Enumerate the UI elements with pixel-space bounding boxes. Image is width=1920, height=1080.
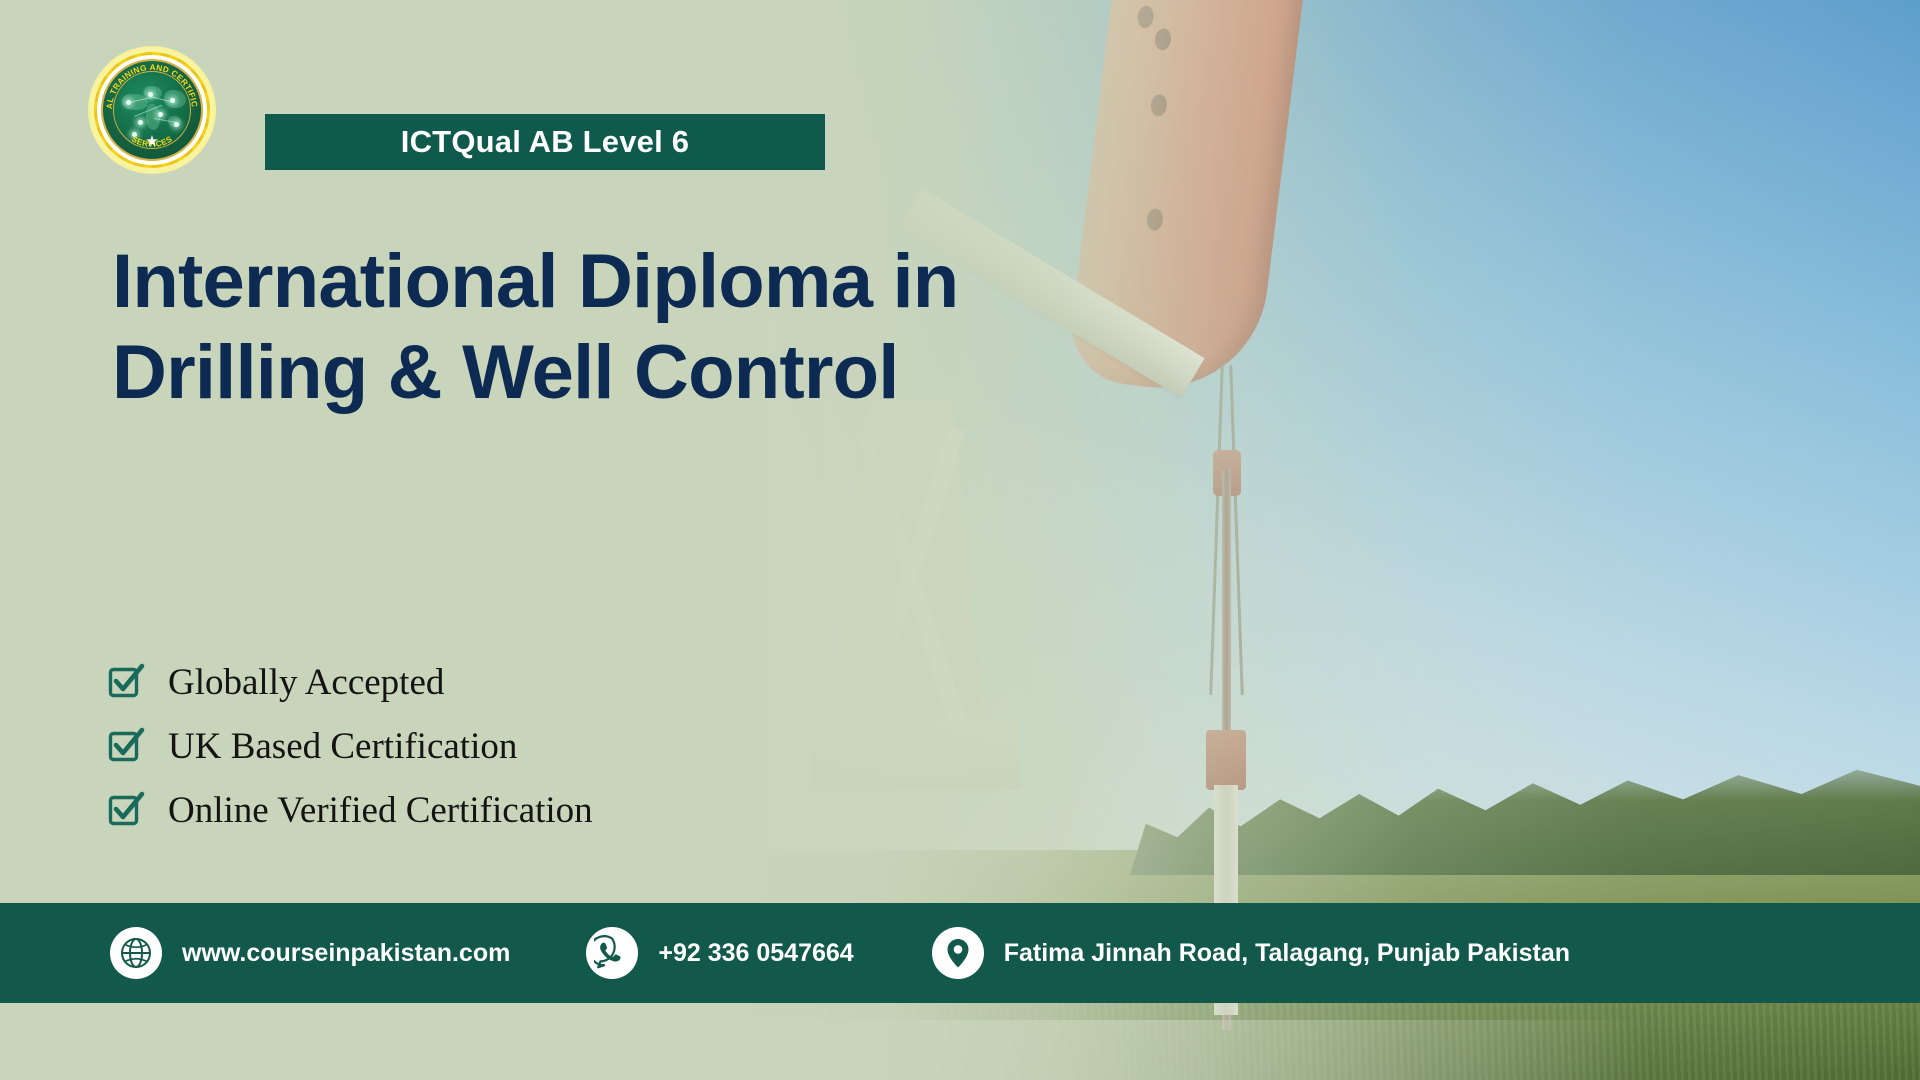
sage-overlay-bottom-strip	[0, 1020, 1920, 1080]
page-title: International Diploma in Drilling & Well…	[112, 236, 1072, 418]
list-item: Online Verified Certification	[108, 778, 593, 842]
badge-ring-text-top: GLOBAL TRAINING AND CERTIFICATION	[101, 59, 199, 109]
feature-checklist: Globally Accepted UK Based Certification…	[108, 650, 593, 842]
svg-text:GLOBAL TRAINING AND CERTIFICAT: GLOBAL TRAINING AND CERTIFICATION	[101, 59, 199, 109]
contact-address-text: Fatima Jinnah Road, Talagang, Punjab Pak…	[1004, 939, 1570, 968]
checkbox-check-icon	[108, 792, 144, 828]
list-item-label: Globally Accepted	[168, 664, 444, 701]
location-pin-icon	[932, 927, 984, 979]
page-title-line-1: International Diploma in	[112, 239, 958, 324]
contact-website[interactable]: www.courseinpakistan.com	[110, 927, 510, 979]
page-title-line-2: Drilling & Well Control	[112, 327, 1072, 418]
contact-phone[interactable]: +92 336 0547664	[586, 927, 853, 979]
level-ribbon: ICTQual AB Level 6	[265, 114, 825, 170]
level-ribbon-label: ICTQual AB Level 6	[401, 124, 689, 160]
list-item: Globally Accepted	[108, 650, 593, 714]
list-item-label: UK Based Certification	[168, 728, 517, 765]
list-item-label: Online Verified Certification	[168, 792, 593, 829]
contact-footer-bar: www.courseinpakistan.com +92 336 0547664…	[0, 903, 1920, 1003]
checkbox-check-icon	[108, 728, 144, 764]
globe-icon	[110, 927, 162, 979]
whatsapp-icon	[586, 927, 638, 979]
badge-star-icon: ★	[145, 134, 158, 149]
certification-badge-logo: GLOBAL TRAINING AND CERTIFICATION SERVIC…	[88, 46, 216, 174]
contact-website-text: www.courseinpakistan.com	[182, 939, 510, 968]
checkbox-check-icon	[108, 664, 144, 700]
contact-phone-text: +92 336 0547664	[658, 939, 853, 968]
promo-banner: GLOBAL TRAINING AND CERTIFICATION SERVIC…	[0, 0, 1920, 1080]
list-item: UK Based Certification	[108, 714, 593, 778]
contact-address[interactable]: Fatima Jinnah Road, Talagang, Punjab Pak…	[932, 927, 1570, 979]
